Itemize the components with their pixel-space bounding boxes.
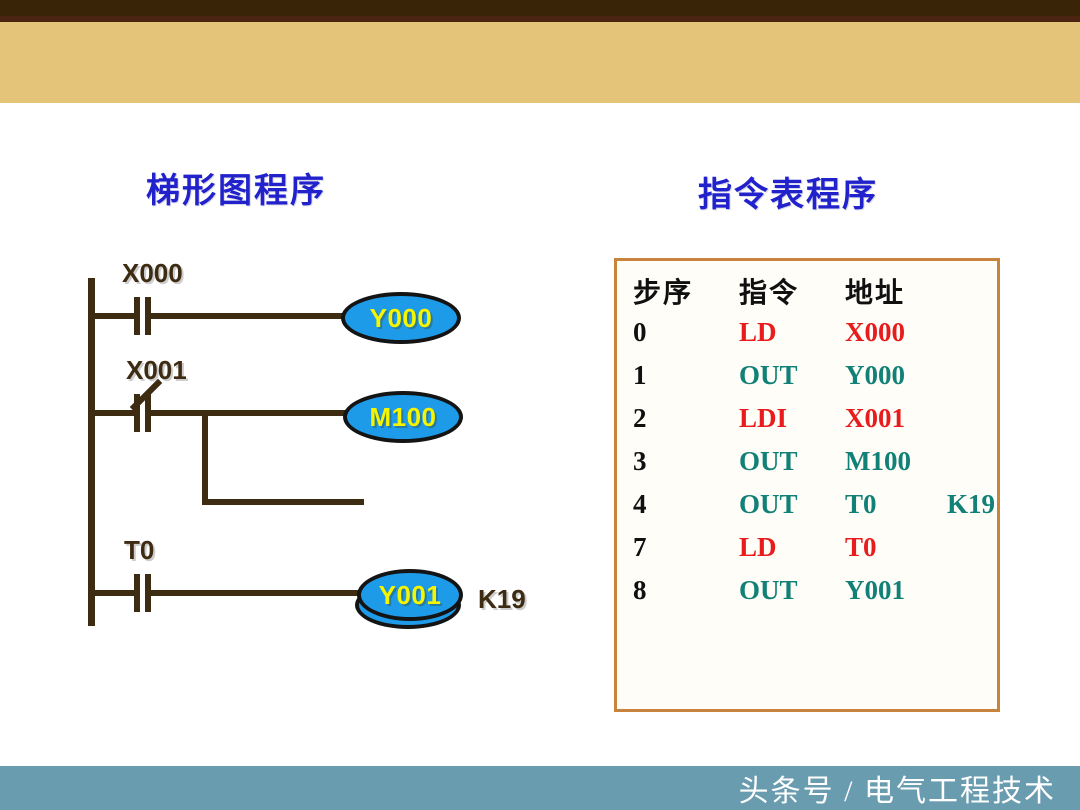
cell-step: 0 — [633, 317, 647, 348]
coil-y001[interactable]: Y001 — [357, 569, 463, 621]
slide-body: 梯形图程序 指令表程序 X000 Y000 X001 M100 — [0, 103, 1080, 766]
cell-step: 4 — [633, 489, 647, 520]
cell-address: X001 — [845, 403, 905, 434]
timer-preset-label-k19: K19 — [478, 584, 526, 615]
cell-step: 7 — [633, 532, 647, 563]
rung-4-wire-right — [150, 590, 363, 596]
rung-2-wire-right — [150, 410, 363, 416]
table-row: 3OUTM100 — [617, 446, 997, 489]
table-row: 0LDX000 — [617, 317, 997, 360]
cell-instruction: LDI — [739, 403, 787, 434]
contact-label-x001: X001 — [126, 355, 187, 386]
header-address: 地址 — [845, 271, 905, 311]
cell-step: 2 — [633, 403, 647, 434]
footer-watermark-text: 头条号 / 电气工程技术 — [739, 766, 1056, 810]
contact-label-x000: X000 — [122, 258, 183, 289]
cell-instruction: LD — [739, 532, 777, 563]
coil-y000[interactable]: Y000 — [341, 292, 461, 344]
ladder-diagram: X000 Y000 X001 M100 T0 K19 T0 — [0, 103, 560, 766]
cell-address: Y000 — [845, 360, 905, 391]
ladder-left-power-rail — [88, 278, 95, 626]
cell-instruction: OUT — [739, 360, 798, 391]
contact-x001-normally-closed[interactable] — [134, 394, 151, 432]
coil-label-y000: Y000 — [370, 303, 433, 334]
cell-step: 1 — [633, 360, 647, 391]
rung-1-wire-left — [88, 313, 138, 319]
footer-bar: 头条号 / 电气工程技术 — [0, 766, 1080, 810]
rung-2-wire-left — [88, 410, 138, 416]
cell-step: 8 — [633, 575, 647, 606]
rung-4-wire-left — [88, 590, 138, 596]
coil-label-y001: Y001 — [379, 580, 442, 611]
cell-instruction: OUT — [739, 446, 798, 477]
cell-address: M100 — [845, 446, 911, 477]
cell-address: T0 — [845, 489, 877, 520]
cell-instruction: OUT — [739, 575, 798, 606]
table-row: 7LDT0 — [617, 532, 997, 575]
table-row: 1OUTY000 — [617, 360, 997, 403]
cell-operand-extra: K19 — [947, 489, 995, 520]
header-band-gold — [0, 22, 1080, 103]
branch-vertical-wire — [202, 410, 208, 505]
cell-address: X000 — [845, 317, 905, 348]
rung-3-branch-wire — [202, 499, 364, 505]
contact-bar-left-icon — [134, 297, 140, 335]
table-row: 4OUTT0K19 — [617, 489, 997, 532]
coil-label-m100: M100 — [369, 402, 436, 433]
instruction-list-table: 步序 指令 地址 0LDX0001OUTY0002LDIX0013OUTM100… — [614, 258, 1000, 712]
cell-address: T0 — [845, 532, 877, 563]
cell-instruction: OUT — [739, 489, 798, 520]
contact-x000-normally-open[interactable] — [134, 297, 151, 335]
cell-instruction: LD — [739, 317, 777, 348]
header-band-dark — [0, 0, 1080, 16]
contact-bar-right-icon — [145, 574, 151, 612]
contact-label-t0: T0 — [124, 535, 154, 566]
contact-bar-right-icon — [145, 297, 151, 335]
contact-bar-left-icon — [134, 574, 140, 612]
table-row: 2LDIX001 — [617, 403, 997, 446]
rung-1-wire-right — [150, 313, 360, 319]
contact-t0-normally-open[interactable] — [134, 574, 151, 612]
table-header-row: 步序 指令 地址 — [617, 271, 997, 314]
header-step: 步序 — [633, 271, 693, 311]
cell-step: 3 — [633, 446, 647, 477]
cell-address: Y001 — [845, 575, 905, 606]
table-row: 8OUTY001 — [617, 575, 997, 618]
header-instruction: 指令 — [739, 271, 799, 311]
coil-m100[interactable]: M100 — [343, 391, 463, 443]
contact-bar-right-icon — [145, 394, 151, 432]
instruction-list-title: 指令表程序 — [698, 167, 878, 216]
